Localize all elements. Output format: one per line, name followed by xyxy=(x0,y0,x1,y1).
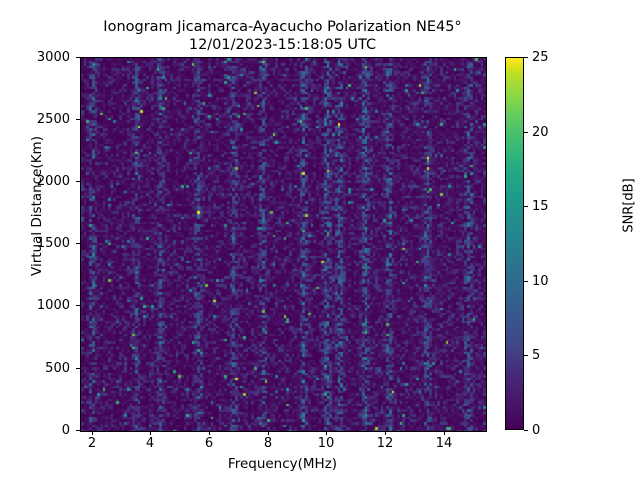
xtick-mark-10 xyxy=(326,431,327,435)
heatmap-plot-area xyxy=(80,57,487,432)
xtick-mark-6 xyxy=(209,431,210,435)
cbtick-mark-25 xyxy=(524,57,528,58)
colorbar-label: SNR[dB] xyxy=(622,106,637,306)
cbtick-mark-5 xyxy=(524,355,528,356)
y-axis-label: Virtual Distance(Km) xyxy=(29,86,45,326)
cbtick-label-15: 15 xyxy=(532,200,549,213)
ytick-mark-2000 xyxy=(76,181,80,182)
ytick-mark-0 xyxy=(76,430,80,431)
cbtick-mark-20 xyxy=(524,132,528,133)
xtick-label-10: 10 xyxy=(306,437,346,450)
colorbar: 25 20 15 10 5 0 xyxy=(505,57,524,430)
ytick-mark-3000 xyxy=(76,57,80,58)
ytick-label-3000: 3000 xyxy=(6,51,70,64)
xtick-mark-4 xyxy=(150,431,151,435)
xtick-label-14: 14 xyxy=(424,437,464,450)
cbtick-label-0: 0 xyxy=(532,424,540,437)
xtick-label-4: 4 xyxy=(130,437,170,450)
chart-title-line1: Ionogram Jicamarca-Ayacucho Polarization… xyxy=(0,18,565,36)
chart-title: Ionogram Jicamarca-Ayacucho Polarization… xyxy=(0,18,565,54)
xtick-mark-14 xyxy=(444,431,445,435)
cbtick-mark-10 xyxy=(524,281,528,282)
cbtick-label-20: 20 xyxy=(532,126,549,139)
xtick-mark-8 xyxy=(268,431,269,435)
chart-title-line2: 12/01/2023-15:18:05 UTC xyxy=(0,36,565,54)
xtick-label-12: 12 xyxy=(365,437,405,450)
cbtick-label-10: 10 xyxy=(532,275,549,288)
ytick-mark-1000 xyxy=(76,305,80,306)
ytick-mark-500 xyxy=(76,368,80,369)
xtick-label-2: 2 xyxy=(72,437,112,450)
cbtick-label-5: 5 xyxy=(532,349,540,362)
cbtick-mark-15 xyxy=(524,206,528,207)
cbtick-label-25: 25 xyxy=(532,51,549,64)
ytick-mark-1500 xyxy=(76,243,80,244)
xtick-mark-12 xyxy=(385,431,386,435)
cbtick-mark-0 xyxy=(524,430,528,431)
ionogram-heatmap xyxy=(81,58,486,431)
colorbar-gradient xyxy=(505,57,524,430)
figure-canvas: Ionogram Jicamarca-Ayacucho Polarization… xyxy=(0,0,640,480)
xtick-label-6: 6 xyxy=(189,437,229,450)
ytick-mark-2500 xyxy=(76,119,80,120)
x-axis-label: Frequency(MHz) xyxy=(80,456,485,472)
xtick-mark-2 xyxy=(92,431,93,435)
ytick-label-500: 500 xyxy=(6,362,70,375)
ytick-label-0: 0 xyxy=(6,424,70,437)
xtick-label-8: 8 xyxy=(248,437,288,450)
